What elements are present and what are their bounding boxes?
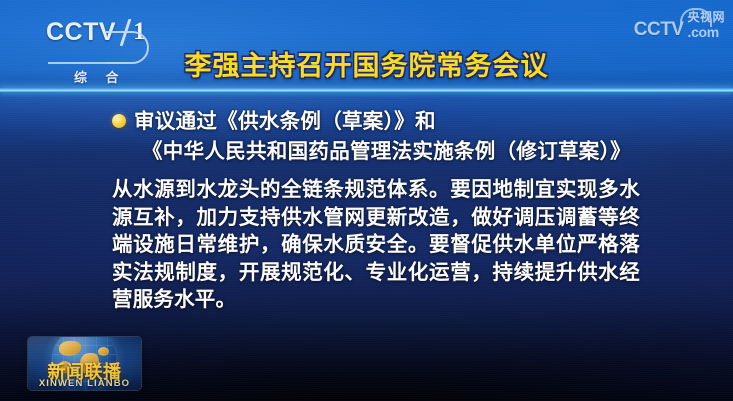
watermark-com-text: .com xyxy=(687,25,725,39)
xinwen-lianbo-program-bug: 新闻联播 XINWEN LIANBO xyxy=(28,337,141,390)
bullet-line-2: 《中华人民共和国药品管理法实施条例（修订草案）》 xyxy=(142,136,694,166)
cctv-com-watermark: CCTV 央视网 .com xyxy=(634,11,725,40)
program-bug-sheen xyxy=(28,337,141,390)
body-paragraph: 从水源到水龙头的全链条规范体系。要因地制宜实现多水源互补，加力支持供水管网更新改… xyxy=(112,176,640,314)
watermark-cctv-text: CCTV xyxy=(634,20,684,40)
header-divider-line xyxy=(0,88,733,93)
watermark-arc-icon xyxy=(680,8,712,27)
headline-title: 李强主持召开国务院常务会议 xyxy=(0,44,733,83)
bullet-item: 审议通过《供水条例（草案）》和 《中华人民共和国药品管理法实施条例（修订草案）》 xyxy=(134,106,694,166)
bullet-dot-icon xyxy=(112,114,126,128)
broadcast-screen: CCTV 1 综 合 CCTV 央视网 .com 李强主持召开国务院常务会议 审… xyxy=(0,0,733,401)
bullet-line-1: 审议通过《供水条例（草案）》和 xyxy=(134,109,436,133)
